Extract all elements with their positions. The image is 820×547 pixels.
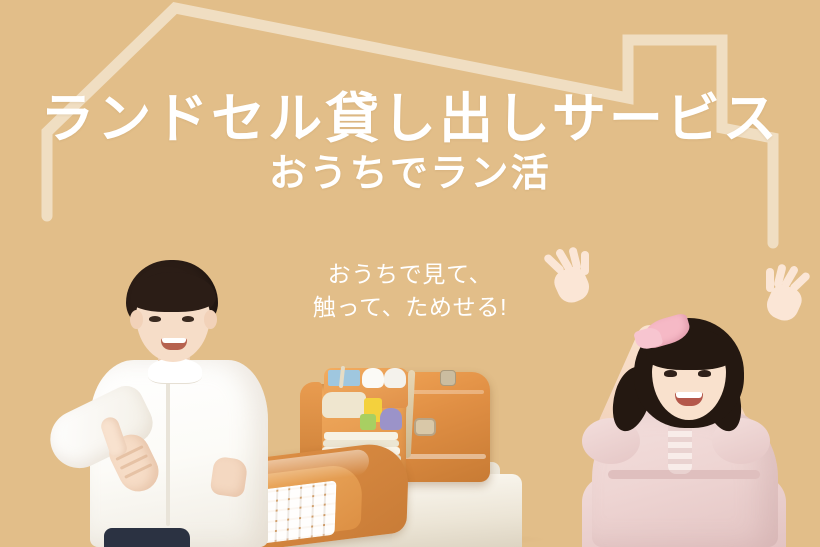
page-title: ランドセル貸し出しサービス	[0, 92, 820, 147]
boy-ear-right	[204, 310, 217, 329]
boy-eye-left	[149, 316, 161, 322]
randoseru-indoor-shoe	[384, 368, 406, 388]
tagline-line-2: 触って、ためせる!	[240, 291, 580, 324]
boy-thumbs-up-photo	[18, 250, 268, 547]
boy-ear-left	[130, 310, 143, 329]
tagline: おうちで見て、 触って、ためせる!	[240, 258, 580, 323]
boy-smile	[161, 338, 187, 350]
headline-block: ランドセル貸し出しサービス おうちでラン活	[0, 92, 820, 195]
boy-lower-hand	[210, 456, 249, 498]
randoseru-indoor-shoe	[362, 368, 384, 388]
girl-finger	[581, 251, 589, 275]
girl-eye-left	[664, 370, 677, 377]
girl-eye-right	[698, 370, 711, 377]
page-subtitle: おうちでラン活	[0, 155, 820, 195]
boy-eye-right	[182, 316, 194, 322]
randoseru-purple-item	[380, 408, 402, 430]
randoseru-green-item	[360, 414, 376, 430]
boy-shirt-placket	[166, 376, 170, 526]
randoseru-notebook	[324, 432, 398, 440]
randoseru-buckle	[440, 370, 456, 386]
girl-dress-ruffle	[668, 420, 692, 474]
boy-pants	[104, 528, 190, 547]
randoseru-lock-icon	[414, 418, 436, 436]
landsel-rental-service-banner: ランドセル貸し出しサービス おうちでラン活 おうちで見て、 触って、ためせる!	[0, 0, 820, 547]
tagline-line-1: おうちで見て、	[240, 258, 580, 291]
girl-finger	[766, 268, 774, 292]
randoseru-cloth-bag	[322, 392, 366, 418]
